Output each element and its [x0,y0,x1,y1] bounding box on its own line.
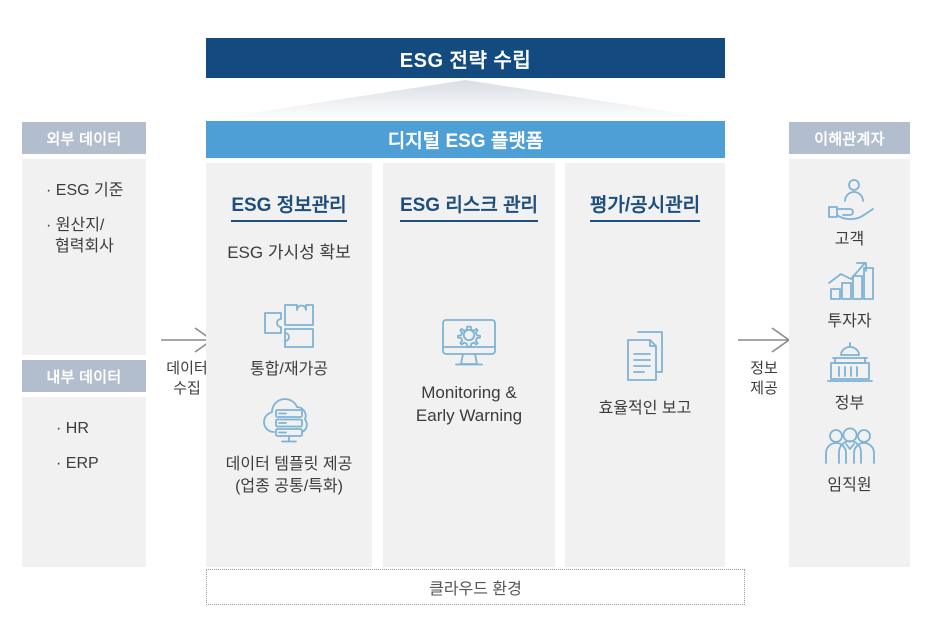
puzzle-icon [261,299,317,351]
column-2-feature-0-caption-1: 효율적인 보고 [599,398,692,420]
stakeholder-1-label: 투자자 [827,307,871,331]
list-item: · HR [56,419,89,440]
stakeholder-list: 고객 투자자 [789,159,910,495]
stakeholder-3-label: 임직원 [827,471,871,495]
list-item: 정부 [823,341,877,413]
esg-platform-diagram: ESG 전략 수립 디지털 ESG 플랫폼 외부 데이터 · ESG 기준 · … [0,0,932,623]
external-data-list: · ESG 기준 · 원산지/ 협력회사 [22,159,146,257]
stakeholder-panel: 고객 투자자 [789,159,910,567]
feature-integration: 통합/재가공 [250,299,328,381]
list-item: 고객 [823,177,877,249]
feature-monitoring: Monitoring & Early Warning [416,314,522,428]
column-0-feature-0-caption-1: 통합/재가공 [250,359,328,381]
platform-banner: 디지털 ESG 플랫폼 [206,121,725,158]
bar-chart-growth-icon [823,259,877,305]
external-item-1-text: · 원산지/ [46,217,104,234]
column-0-feature-1-caption-2: (업종 공통/특화) [226,476,353,498]
column-1-feature-0-caption-2: Early Warning [416,405,522,428]
monitor-gear-icon [437,314,501,370]
people-group-icon [823,423,877,469]
list-item: 투자자 [823,259,877,331]
feature-integration-caption: 통합/재가공 [250,359,328,381]
list-item: 임직원 [823,423,877,495]
internal-data-panel: · HR · ERP [22,397,146,567]
external-item-0-text: · ESG 기준 [46,182,123,199]
column-esg-risk: ESG 리스크 관리 Monitoring & Early Warning [383,163,555,567]
column-0-subtitle: ESG 가시성 확보 [227,238,351,263]
funnel-connector [206,78,725,120]
column-2-title: 평가/공시관리 [590,195,700,222]
strategy-banner: ESG 전략 수립 [206,38,725,78]
internal-data-list: · HR · ERP [22,397,146,475]
arrow-right-icon [736,327,792,353]
stakeholder-2-label: 정부 [835,389,864,413]
cloud-server-icon [258,394,320,446]
cloud-environment-label: 클라우드 환경 [429,575,522,599]
funnel-shape [206,78,725,120]
external-data-panel: · ESG 기준 · 원산지/ 협력회사 [22,159,146,355]
stakeholder-header: 이해관계자 [789,122,910,154]
feature-reporting-caption: 효율적인 보고 [599,398,692,420]
column-evaluation-disclosure: 평가/공시관리 효율적인 보고 [565,163,725,567]
list-item: · 원산지/ 협력회사 [46,216,114,258]
column-esg-information: ESG 정보관리 ESG 가시성 확보 통합/재가공 [206,163,372,567]
feature-reporting: 효율적인 보고 [599,328,692,420]
hand-person-icon [823,177,877,223]
column-0-feature-1-caption-1: 데이터 템플릿 제공 [226,454,353,476]
list-item: · ESG 기준 [46,181,123,202]
external-data-header: 외부 데이터 [22,122,146,154]
internal-item-1-text: · ERP [56,455,99,472]
list-item: · ERP [56,454,99,475]
feature-data-template-caption: 데이터 템플릿 제공 (업종 공통/특화) [226,454,353,497]
internal-data-header: 내부 데이터 [22,360,146,392]
column-1-feature-0-caption-1: Monitoring & [416,382,522,405]
government-building-icon [823,341,877,387]
stakeholder-0-label: 고객 [835,225,864,249]
feature-data-template: 데이터 템플릿 제공 (업종 공통/특화) [226,394,353,497]
column-1-title: ESG 리스크 관리 [400,195,538,222]
internal-item-0-text: · HR [56,420,89,437]
column-0-title: ESG 정보관리 [231,195,346,222]
cloud-environment-box: 클라우드 환경 [206,569,745,605]
external-item-1-sub: 협력회사 [46,237,114,258]
feature-monitoring-caption: Monitoring & Early Warning [416,382,522,428]
documents-icon [618,328,672,384]
